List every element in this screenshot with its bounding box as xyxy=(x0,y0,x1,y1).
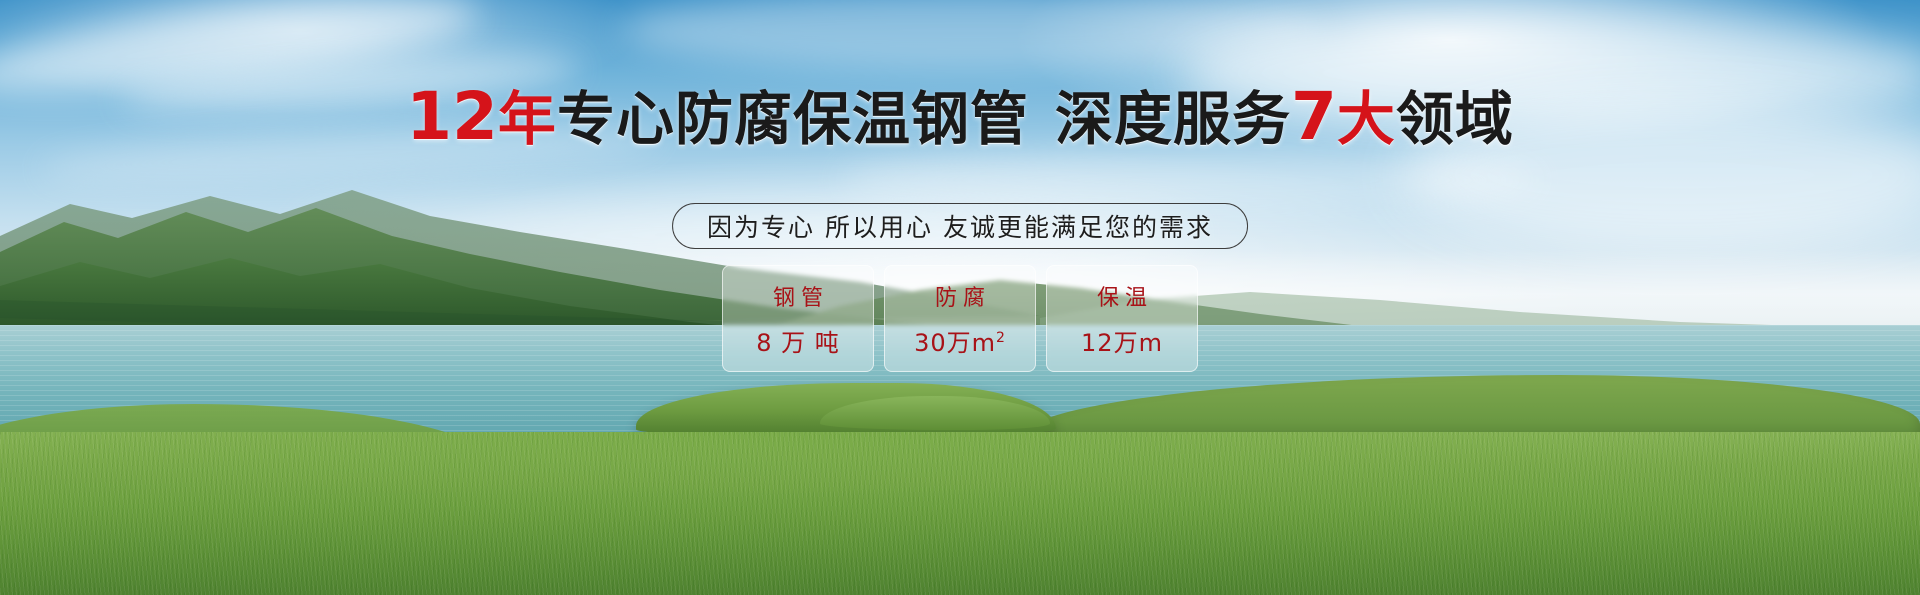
headline-years-unit: 年 xyxy=(498,85,557,153)
stat-card-insulation[interactable]: 保温 12万m xyxy=(1046,265,1198,372)
stat-card-value: 12万m xyxy=(1081,323,1163,358)
headline-years-number: 12 xyxy=(406,78,498,155)
headline-fields-unit: 大 xyxy=(1337,85,1396,153)
stat-value-superscript: 2 xyxy=(996,330,1006,346)
stat-card-value: 8 万 吨 xyxy=(756,323,840,358)
headline-main-phrase: 专心防腐保温钢管 xyxy=(557,85,1029,153)
subtitle-pill: 因为专心 所以用心 友诚更能满足您的需求 xyxy=(672,203,1248,249)
stat-value-main: 30万m xyxy=(914,329,996,357)
headline: 12年专心防腐保温钢管深度服务7大领域 xyxy=(0,82,1920,151)
stat-card-steel-pipe[interactable]: 钢管 8 万 吨 xyxy=(722,265,874,372)
hero-banner: 12年专心防腐保温钢管深度服务7大领域 因为专心 所以用心 友诚更能满足您的需求… xyxy=(0,0,1920,595)
stat-card-value: 30万m2 xyxy=(914,323,1006,358)
stat-value-main: 12万m xyxy=(1081,329,1163,357)
stat-card-anticorrosion[interactable]: 防腐 30万m2 xyxy=(884,265,1036,372)
headline-fields-suffix: 领域 xyxy=(1396,85,1514,153)
subtitle-text: 因为专心 所以用心 友诚更能满足您的需求 xyxy=(707,208,1213,244)
headline-fields-number: 7 xyxy=(1291,78,1337,155)
banner-content: 12年专心防腐保温钢管深度服务7大领域 因为专心 所以用心 友诚更能满足您的需求… xyxy=(0,0,1920,595)
headline-service-phrase: 深度服务 xyxy=(1055,85,1291,153)
stat-card-label: 钢管 xyxy=(767,280,829,312)
stat-card-group: 钢管 8 万 吨 防腐 30万m2 保温 12万m xyxy=(722,265,1198,372)
stat-card-label: 防腐 xyxy=(929,280,991,312)
stat-card-label: 保温 xyxy=(1091,280,1153,312)
stat-value-main: 8 万 吨 xyxy=(756,329,840,357)
